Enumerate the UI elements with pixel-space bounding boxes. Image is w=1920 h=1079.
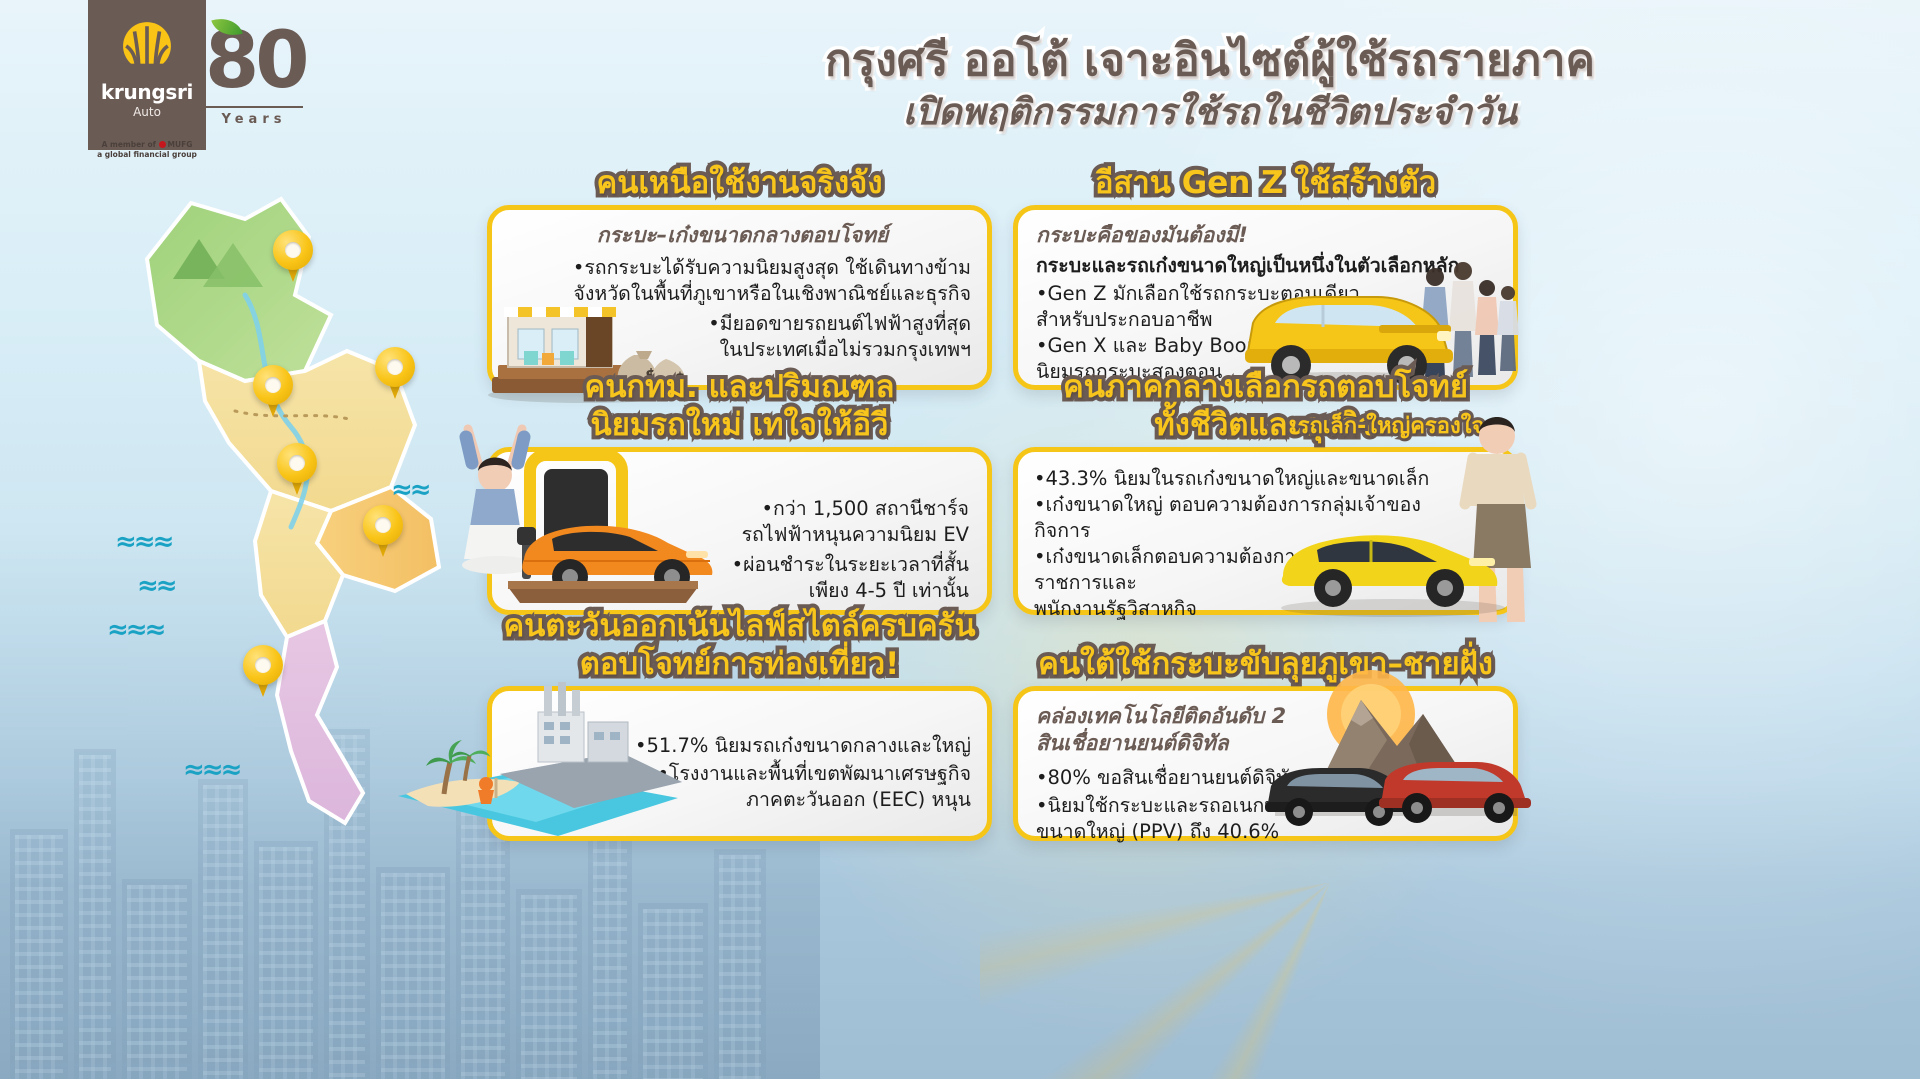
- map-pin-central[interactable]: [277, 443, 317, 497]
- thailand-map: ≈≈≈ ≈≈ ≈≈≈ ≈≈≈ ≈≈: [95, 175, 495, 835]
- card-east[interactable]: คนตะวันออกเน้นไลฟ์สไตล์ครบครัน ตอบโจทย์ก…: [487, 686, 992, 841]
- mufg-brand-text: MUFG: [168, 140, 193, 149]
- logo-sub-label: Auto: [133, 105, 161, 119]
- card-central-bullet-3: •เก๋งขนาดเล็กตอบความต้องการกลุ่มเจ้าข้าร…: [1034, 544, 1443, 622]
- svg-text:$: $: [675, 369, 685, 387]
- mufg-dot-icon: [159, 141, 166, 148]
- card-north-subtitle: กระบะ–เก๋งขนาดกลางตอบโจทย์: [514, 222, 971, 249]
- card-north[interactable]: คนเหนือใช้งานจริงจัง กระบะ–เก๋งขนาดกลางต…: [487, 205, 992, 390]
- card-south-subtitle: คล่องเทคโนโลยีติดอันดับ 2 สินเชื่อยานยนต…: [1036, 703, 1366, 757]
- infographic-root: ≈≈≈ ≈≈ ≈≈≈ ≈≈≈ ≈≈ krungsri Auto A member…: [0, 0, 1920, 1079]
- map-pin-isan[interactable]: [375, 347, 415, 401]
- card-bangkok-bullet-2: •ผ่อนชำระในระยะเวลาที่สั้น เพียง 4-5 ปี …: [649, 552, 969, 604]
- headline-line-1: กรุงศรี ออโต้ เจาะอินไซต์ผู้ใช้รถรายภาค: [560, 34, 1860, 88]
- card-central[interactable]: คนภาคกลางเลือกรถตอบโจทย์ ทั้งชีวิตและธุร…: [1013, 447, 1518, 615]
- card-south[interactable]: คนใต้ใช้กระบะขับลุยภูเขา–ชายฝั่ง คล่องเท…: [1013, 686, 1518, 841]
- card-south-bullet-2: •นิยมใช้กระบะและรถอเนกประสงค์ ขนาดใหญ่ (…: [1036, 793, 1366, 845]
- card-north-bullet-2: •มียอดขายรถยนต์ไฟฟ้าสูงที่สุด ในประเทศเม…: [514, 311, 971, 363]
- svg-text:$: $: [645, 366, 657, 386]
- card-central-title-suffix: รถเล็ก-ใหญ่ครองใจ: [1261, 408, 1521, 446]
- card-isan-subtitle: กระบะคือของมันต้องมี!: [1036, 222, 1497, 249]
- card-isan-bullet-3: •Gen X และ Baby Boomer นิยมรถกระบะสองตอน: [1036, 333, 1497, 385]
- card-central-bullet-1: •43.3% นิยมในรถเก๋งขนาดใหญ่และขนาดเล็ก: [1034, 466, 1443, 492]
- card-isan-bullet-2: •Gen Z มักเลือกใช้รถกระบะตอนเดียว สำหรับ…: [1036, 281, 1497, 333]
- card-north-title: คนเหนือใช้งานจริงจัง: [492, 164, 987, 202]
- mufg-member-text: A member of: [102, 140, 156, 149]
- card-bangkok-bullet-1: •กว่า 1,500 สถานีชาร์จ รถไฟฟ้าหนุนความนิ…: [649, 496, 969, 548]
- wave-icon-2: ≈≈: [137, 571, 175, 601]
- card-isan[interactable]: อีสาน Gen Z ใช้สร้างตัว กระบะคือของมันต้…: [1013, 205, 1518, 390]
- wave-icon-1: ≈≈≈: [115, 527, 171, 557]
- krungsri-logo-icon: [121, 20, 173, 72]
- card-south-title: คนใต้ใช้กระบะขับลุยภูเขา–ชายฝั่ง: [1018, 645, 1513, 683]
- wave-icon-3: ≈≈≈: [107, 615, 163, 645]
- page-title: กรุงศรี ออโต้ เจาะอินไซต์ผู้ใช้รถรายภาค …: [560, 34, 1860, 136]
- card-bangkok[interactable]: คนกทม. และปริมณฑล นิยมรถใหม่ เทใจให้อีวี…: [487, 447, 992, 615]
- card-south-bullet-1: •80% ขอสินเชื่อยานยนต์ดิจิทัล: [1036, 765, 1366, 791]
- card-isan-bullet-1: กระบะและรถเก๋งขนาดใหญ่เป็นหนึ่งในตัวเลือ…: [1036, 253, 1497, 279]
- mufg-group-text: a global financial group: [97, 150, 197, 159]
- map-pin-north[interactable]: [273, 230, 313, 284]
- anniversary-badge: 80 Years: [205, 18, 325, 138]
- wave-icon-4: ≈≈≈: [183, 755, 239, 785]
- card-isan-title: อีสาน Gen Z ใช้สร้างตัว: [1018, 164, 1513, 202]
- mufg-credit: A member of MUFG a global financial grou…: [88, 140, 206, 160]
- logo-wordmark: krungsri: [101, 80, 193, 104]
- krungsri-logo-box: krungsri Auto: [88, 0, 206, 150]
- center-glow: [760, 300, 1520, 1060]
- map-pin-upper-central[interactable]: [253, 365, 293, 419]
- card-north-bullet-1: •รถกระบะได้รับความนิยมสูงสุด ใช้เดินทางข…: [514, 255, 971, 307]
- anniversary-label: Years: [205, 106, 303, 127]
- map-pin-south[interactable]: [243, 645, 283, 699]
- card-east-bullet-2: •โรงงานและพื้นที่เขตพัฒนาเศรษฐกิจ ภาคตะว…: [611, 761, 971, 813]
- wave-icon-5: ≈≈: [391, 475, 429, 505]
- headline-line-2: เปิดพฤติกรรมการใช้รถในชีวิตประจำวัน: [560, 90, 1860, 136]
- map-pin-east[interactable]: [363, 505, 403, 559]
- card-central-bullet-2: •เก๋งขนาดใหญ่ ตอบความต้องการกลุ่มเจ้าของ…: [1034, 492, 1443, 544]
- card-east-bullet-1: •51.7% นิยมรถเก๋งขนาดกลางและใหญ่: [611, 733, 971, 759]
